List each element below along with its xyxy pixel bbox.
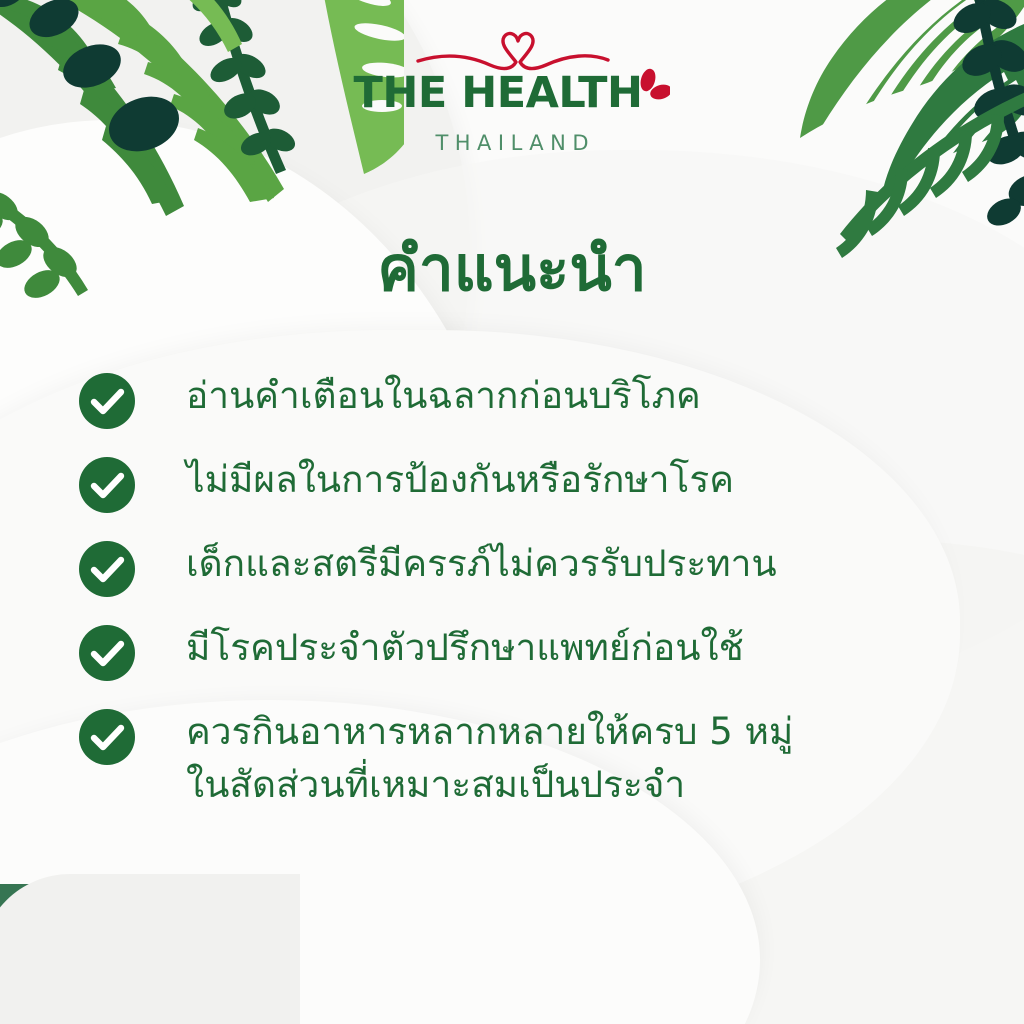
brand-logo: THE HEALTH THAILAND	[0, 28, 1024, 155]
list-item: เด็กและสตรีมีครรภ์ไม่ควรรับประทาน	[78, 538, 978, 598]
list-item-label: ไม่มีผลในการป้องกันหรือรักษาโรค	[186, 454, 734, 507]
list-item-label: ควรกินอาหารหลากหลายให้ครบ 5 หมู่ ในสัดส่…	[186, 706, 793, 811]
check-circle-icon	[78, 456, 136, 514]
list-item-label: เด็กและสตรีมีครรภ์ไม่ควรรับประทาน	[186, 538, 777, 591]
check-circle-icon	[78, 624, 136, 682]
list-item: ไม่มีผลในการป้องกันหรือรักษาโรค	[78, 454, 978, 514]
check-circle-icon	[78, 372, 136, 430]
list-item: ควรกินอาหารหลากหลายให้ครบ 5 หมู่ ในสัดส่…	[78, 706, 978, 811]
check-circle-icon	[78, 708, 136, 766]
page-title: คำแนะนำ	[0, 236, 1024, 301]
poster-canvas: THE HEALTH THAILAND คำแนะนำ อ่านคำเตือนใ…	[0, 0, 1024, 1024]
list-item-label: มีโรคประจำตัวปรึกษาแพทย์ก่อนใช้	[186, 622, 744, 675]
logo-name: THE HEALTH	[354, 72, 643, 115]
red-petals-icon	[636, 68, 670, 108]
corner-accent-shape	[0, 884, 190, 1024]
list-item: อ่านคำเตือนในฉลากก่อนบริโภค	[78, 370, 978, 430]
check-circle-icon	[78, 540, 136, 598]
recommendation-list: อ่านคำเตือนในฉลากก่อนบริโภค ไม่มีผลในการ…	[78, 370, 978, 835]
list-item-label: อ่านคำเตือนในฉลากก่อนบริโภค	[186, 370, 701, 423]
corner-accent-mask	[0, 874, 300, 1024]
list-item: มีโรคประจำตัวปรึกษาแพทย์ก่อนใช้	[78, 622, 978, 682]
logo-subtitle: THAILAND	[429, 131, 595, 155]
